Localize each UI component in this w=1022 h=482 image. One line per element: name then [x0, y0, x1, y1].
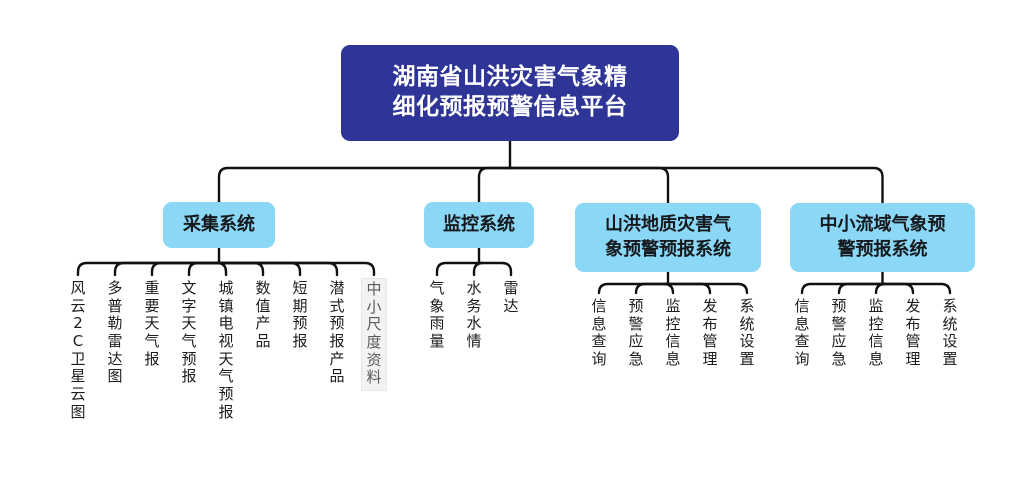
leaf-node-label: 短期预报	[292, 280, 309, 351]
level2-node-label: 采集系统	[183, 213, 255, 237]
leaf-node-label: 中小尺度资料	[366, 281, 383, 387]
level2-node-monitoring-system[interactable]: 监控系统	[424, 202, 534, 248]
level2-node-flood-geohazard-warning-system[interactable]: 山洪地质灾害气 象预警预报系统	[575, 203, 761, 272]
leaf-node[interactable]: 风云2C卫星云图	[65, 278, 91, 422]
leaf-node[interactable]: 雷达	[498, 278, 524, 315]
level2-node-label: 监控系统	[443, 213, 515, 237]
leaf-node[interactable]: 气象雨量	[424, 278, 450, 351]
leaf-node-label: 系统设置	[942, 298, 959, 369]
level2-node-label: 中小流域气象预 警预报系统	[820, 213, 946, 261]
leaf-node[interactable]: 监控信息	[660, 296, 686, 369]
leaf-node[interactable]: 水务水情	[461, 278, 487, 351]
leaf-node[interactable]: 预警应急	[623, 296, 649, 369]
leaf-node[interactable]: 潜式预报产品	[324, 278, 350, 386]
leaf-node-label: 文字天气预报	[181, 280, 198, 386]
level2-node-collection-system[interactable]: 采集系统	[163, 202, 275, 248]
leaf-node[interactable]: 发布管理	[697, 296, 723, 369]
leaf-node[interactable]: 重要天气报	[139, 278, 165, 368]
leaf-node-label: 潜式预报产品	[329, 280, 346, 386]
leaf-node[interactable]: 发布管理	[900, 296, 926, 369]
level2-node-small-watershed-warning-system[interactable]: 中小流域气象预 警预报系统	[790, 203, 975, 272]
root-node[interactable]: 湖南省山洪灾害气象精 细化预报预警信息平台	[341, 45, 679, 141]
leaf-node-label: 系统设置	[739, 298, 756, 369]
leaf-node-label: 气象雨量	[429, 280, 446, 351]
leaf-node-label: 风云2C卫星云图	[70, 280, 87, 422]
diagram-canvas: 湖南省山洪灾害气象精 细化预报预警信息平台 采集系统监控系统山洪地质灾害气 象预…	[0, 0, 1022, 482]
leaf-node-label: 发布管理	[702, 298, 719, 369]
leaf-node[interactable]: 监控信息	[863, 296, 889, 369]
leaf-node-label: 数值产品	[255, 280, 272, 351]
leaf-node[interactable]: 信息查询	[586, 296, 612, 369]
leaf-node-label: 信息查询	[794, 298, 811, 369]
leaf-node-label: 多普勒雷达图	[107, 280, 124, 386]
leaf-node[interactable]: 短期预报	[287, 278, 313, 351]
leaf-node-label: 发布管理	[905, 298, 922, 369]
leaf-node[interactable]: 系统设置	[734, 296, 760, 369]
leaf-node-label: 监控信息	[868, 298, 885, 369]
leaf-node-label: 雷达	[503, 280, 520, 315]
leaf-node[interactable]: 预警应急	[826, 296, 852, 369]
leaf-node-label: 水务水情	[466, 280, 483, 351]
leaf-node-label: 重要天气报	[144, 280, 161, 368]
leaf-node[interactable]: 系统设置	[937, 296, 963, 369]
root-node-label: 湖南省山洪灾害气象精 细化预报预警信息平台	[393, 63, 628, 123]
leaf-node-label: 预警应急	[831, 298, 848, 369]
leaf-node-label: 监控信息	[665, 298, 682, 369]
leaf-node[interactable]: 数值产品	[250, 278, 276, 351]
leaf-node-label: 信息查询	[591, 298, 608, 369]
leaf-node[interactable]: 信息查询	[789, 296, 815, 369]
leaf-node[interactable]: 文字天气预报	[176, 278, 202, 386]
leaf-node[interactable]: 中小尺度资料	[361, 278, 387, 391]
leaf-node[interactable]: 城镇电视天气预报	[213, 278, 239, 422]
leaf-node-label: 预警应急	[628, 298, 645, 369]
leaf-node-label: 城镇电视天气预报	[218, 280, 235, 422]
leaf-node[interactable]: 多普勒雷达图	[102, 278, 128, 386]
level2-node-label: 山洪地质灾害气 象预警预报系统	[605, 213, 731, 261]
